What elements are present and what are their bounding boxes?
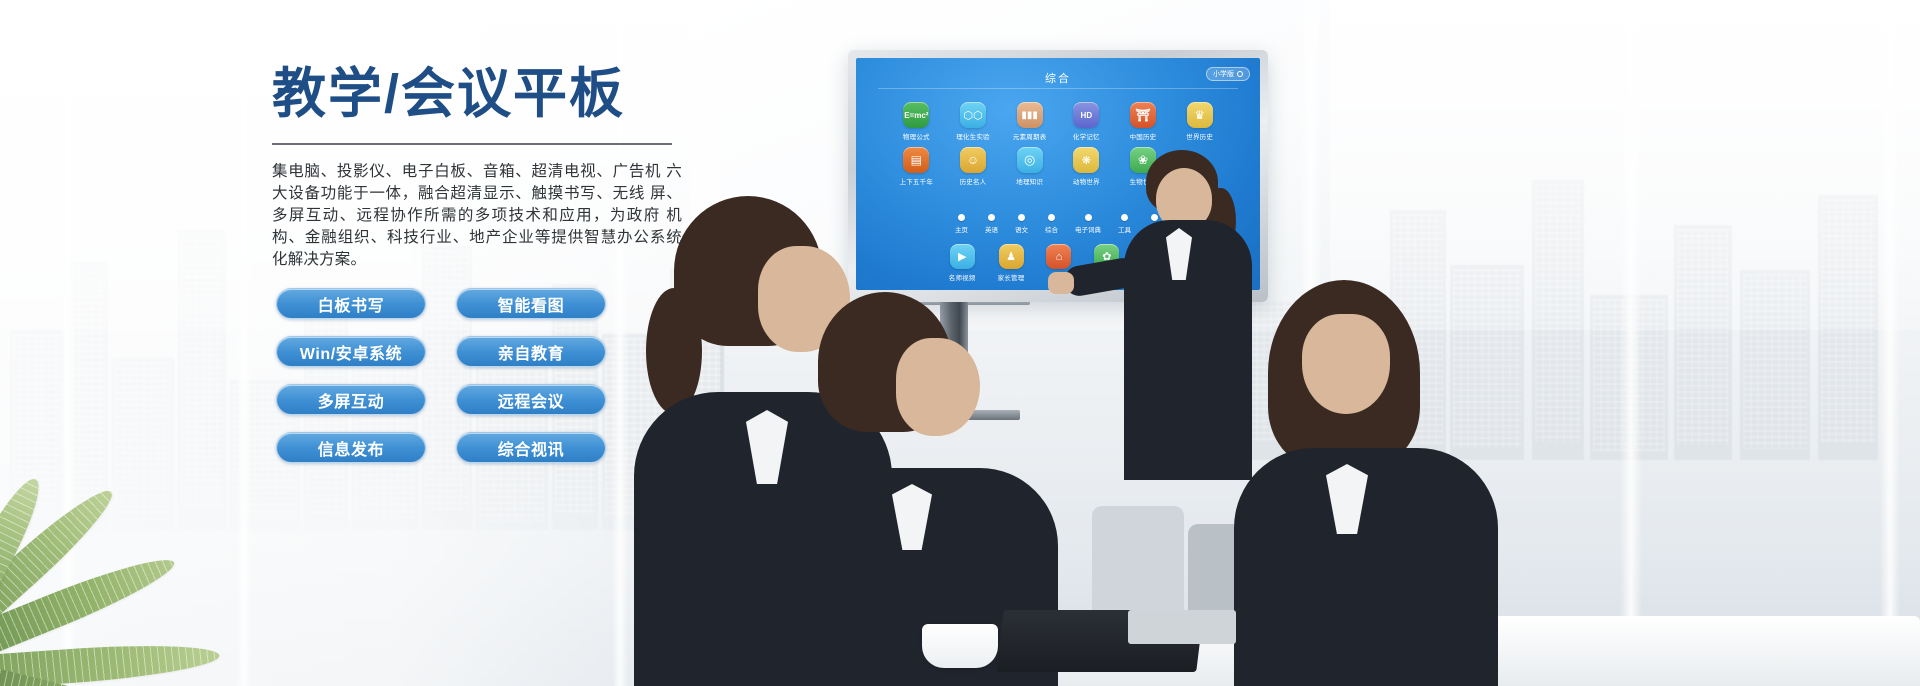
tab-label: 主页 [955,224,968,234]
window-mullion [1620,0,1642,686]
app-tile[interactable]: HD 化学记忆 [1060,102,1113,141]
edition-badge[interactable]: 小学版 [1206,67,1250,81]
app-tile[interactable]: ◎ 地理知识 [1003,147,1056,186]
tab-label: 电子词典 [1075,224,1101,234]
tab-label: 综合 [1045,224,1058,234]
app-label: 历史名人 [960,176,987,186]
edition-badge-label: 小学版 [1213,69,1234,79]
hero-copy: 教学/会议平板 集电脑、投影仪、电子白板、音箱、超清电视、广告机 六大设备功能于… [272,64,692,271]
feature-button-group: 白板书写 智能看图 Win/安卓系统 亲自教育 多屏互动 远程会议 信息发布 综… [276,288,606,463]
tab-label: 英语 [985,224,998,234]
person-presenter [1110,150,1260,480]
dock-label: 家长管理 [998,272,1025,282]
feature-button-win-android-os[interactable]: Win/安卓系统 [276,336,426,367]
teacher-video-icon: ▶ [950,244,975,269]
app-tile[interactable]: ▤ 上下五千年 [890,147,943,186]
app-tile[interactable]: ▮▮▮ 元素周期表 [1003,102,1056,141]
app-label: 元素周期表 [1013,131,1047,141]
historic-figures-icon: ☺ [960,147,986,173]
app-tile[interactable]: E=mc² 物理公式 [890,102,943,141]
geography-icon: ◎ [1017,147,1043,173]
title-divider [272,143,672,145]
window-mullion [1880,0,1900,686]
app-label: 化学记忆 [1073,131,1100,141]
app-label: 动物世界 [1073,176,1100,186]
home-icon: ⌂ [1046,244,1071,269]
animal-world-icon: ❋ [1073,147,1099,173]
app-label: 物理公式 [903,131,930,141]
person-attendee-3 [1250,280,1500,686]
app-tile[interactable]: ❋ 动物世界 [1060,147,1113,186]
feature-button-smart-image-view[interactable]: 智能看图 [456,288,606,319]
china-history-icon: ⛩ [1130,102,1156,128]
tab-home[interactable]: 主页 [955,214,968,234]
feature-button-info-publish[interactable]: 信息发布 [276,432,426,463]
laptop [1128,610,1236,644]
five-thousand-years-icon: ▤ [903,147,929,173]
tab-english[interactable]: 英语 [985,214,998,234]
tab-bullet-icon [988,214,995,221]
app-label: 世界历史 [1186,131,1213,141]
app-tile[interactable]: ☺ 历史名人 [947,147,1000,186]
app-label: 上下五千年 [900,176,934,186]
app-label: 中国历史 [1130,131,1157,141]
tab-dictionary[interactable]: 电子词典 [1075,214,1101,234]
dock-label: 名师视频 [949,272,976,282]
coffee-cup [922,624,998,668]
dock-item[interactable]: ♟ 家长管理 [998,244,1025,282]
tab-chinese[interactable]: 语文 [1015,214,1028,234]
world-history-icon: ♛ [1187,102,1213,128]
app-tile[interactable]: ⬡⬡ 理化生实验 [947,102,1000,141]
screen-divider [878,88,1238,89]
feature-button-whiteboard-writing[interactable]: 白板书写 [276,288,426,319]
tab-bullet-icon [1085,214,1092,221]
screen-title: 综合 [856,70,1260,86]
app-label: 地理知识 [1016,176,1043,186]
physics-formula-icon: E=mc² [903,102,929,128]
page-title: 教学/会议平板 [272,64,692,124]
chemistry-memory-icon: HD [1073,102,1099,128]
parent-control-icon: ♟ [999,244,1024,269]
tab-comprehensive[interactable]: 综合 [1045,214,1058,234]
app-tile[interactable]: ♛ 世界历史 [1173,102,1226,141]
feature-button-multiscreen[interactable]: 多屏互动 [276,384,426,415]
app-tile[interactable]: ⛩ 中国历史 [1117,102,1170,141]
tab-bullet-icon [958,214,965,221]
feature-button-remote-meeting[interactable]: 远程会议 [456,384,606,415]
tab-bullet-icon [1048,214,1055,221]
app-label: 理化生实验 [956,131,990,141]
tab-bullet-icon [1018,214,1025,221]
feature-button-integrated-video[interactable]: 综合视讯 [456,432,606,463]
palm-plant [0,436,290,686]
refresh-icon [1237,71,1243,77]
tab-label: 语文 [1015,224,1028,234]
feature-button-parent-education[interactable]: 亲自教育 [456,336,606,367]
dock-item[interactable]: ▶ 名师视频 [949,244,976,282]
chemistry-lab-icon: ⬡⬡ [960,102,986,128]
hero-paragraph: 集电脑、投影仪、电子白板、音箱、超清电视、广告机 六大设备功能于一体，融合超清显… [272,161,682,271]
chair [1092,506,1184,626]
periodic-table-icon: ▮▮▮ [1017,102,1043,128]
